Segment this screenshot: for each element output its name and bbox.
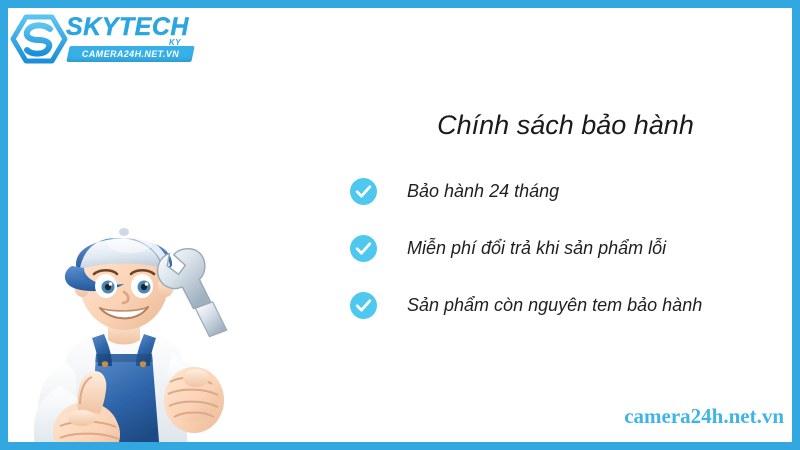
warranty-feature-list: Bảo hành 24 tháng Miễn phí đổi trả khi s… [350, 176, 790, 347]
brand-name: SKYTECH [66, 14, 189, 40]
site-watermark: camera24h.net.vn [624, 404, 784, 428]
list-item: Miễn phí đổi trả khi sản phẩm lỗi [350, 233, 790, 263]
list-item-label: Sản phẩm còn nguyên tem bảo hành [407, 290, 702, 320]
brand-wordmark: SKYTECH KY CAMERA24H.NET.VN [66, 12, 198, 66]
site-url-text: CAMERA24H.NET.VN [68, 46, 193, 62]
list-item-label: Bảo hành 24 tháng [407, 176, 559, 206]
check-circle-icon [350, 235, 377, 262]
technician-mascot-thumbs-up-illustration [20, 204, 255, 450]
list-item: Sản phẩm còn nguyên tem bảo hành [350, 290, 790, 320]
warranty-policy-banner: SKYTECH KY CAMERA24H.NET.VN [0, 0, 800, 450]
hexagon-s-logo-icon [10, 14, 68, 66]
page-title: Chính sách bảo hành [338, 108, 793, 142]
list-item-label: Miễn phí đổi trả khi sản phẩm lỗi [407, 233, 666, 263]
brand-logo[interactable]: SKYTECH KY CAMERA24H.NET.VN [10, 10, 200, 68]
check-circle-icon [350, 178, 377, 205]
list-item: Bảo hành 24 tháng [350, 176, 790, 206]
check-circle-icon [350, 292, 377, 319]
banner-canvas: SKYTECH KY CAMERA24H.NET.VN [8, 8, 792, 442]
